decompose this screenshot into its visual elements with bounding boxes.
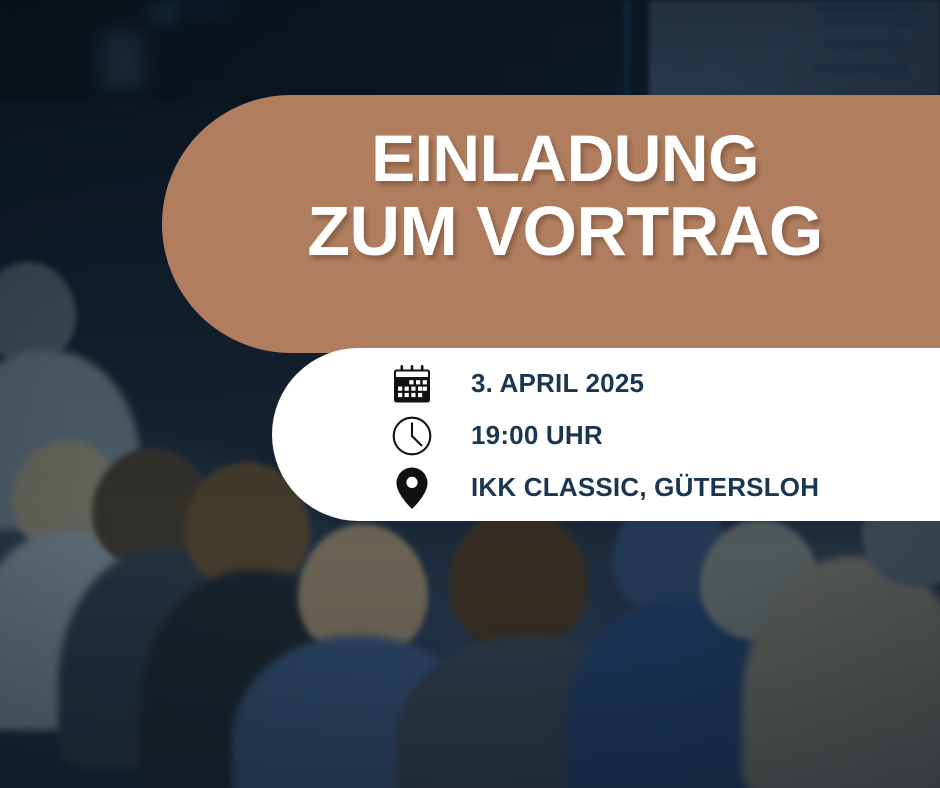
clock-icon [385, 415, 439, 457]
title-line-1: EINLADUNG [371, 121, 759, 195]
detail-time-label: 19:00 UHR [471, 420, 603, 451]
headline-banner: EINLADUNG ZUM VORTRAG [162, 95, 940, 353]
detail-row-time: 19:00 UHR [385, 410, 819, 461]
invitation-poster: EINLADUNG ZUM VORTRAG [0, 0, 940, 788]
detail-date-label: 3. APRIL 2025 [471, 368, 644, 399]
detail-row-date: 3. APRIL 2025 [385, 358, 819, 409]
calendar-icon [385, 364, 439, 404]
event-details-card: 3. APRIL 2025 19:00 UHR [272, 348, 940, 521]
title-line-2: ZUM VORTRAG [262, 194, 868, 270]
detail-location-label: IKK CLASSIC, GÜTERSLOH [471, 472, 819, 503]
detail-row-location: IKK CLASSIC, GÜTERSLOH [385, 462, 819, 513]
event-details-list: 3. APRIL 2025 19:00 UHR [385, 358, 819, 513]
location-pin-icon [385, 466, 439, 510]
page-title: EINLADUNG ZUM VORTRAG [262, 123, 868, 270]
